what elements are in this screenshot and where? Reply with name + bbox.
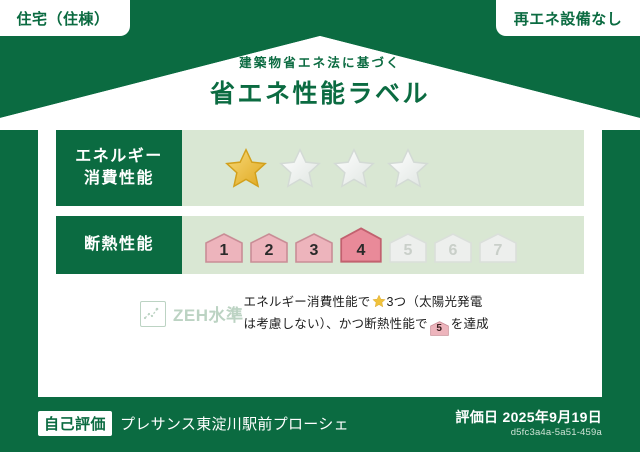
energy-performance-value <box>182 130 584 206</box>
star-empty-icon <box>386 146 430 190</box>
insulation-grade-value: 2 <box>265 242 274 264</box>
energy-label-line2: 消費性能 <box>84 168 154 190</box>
building-type-badge: 住宅（住棟） <box>0 0 130 36</box>
self-evaluation-badge: 自己評価 <box>38 411 112 436</box>
zeh-standard: ZEH水準 <box>56 301 244 327</box>
insulation-grade-scale: 1234567 <box>182 226 518 264</box>
insulation-performance-label-box: 断熱性能 <box>56 216 182 274</box>
insulation-grade-5: 5 <box>388 232 428 264</box>
building-name: プレサンス東淀川駅前プローシェ <box>120 413 349 434</box>
content-panel: エネルギー 消費性能 断熱性能 1234567 <box>38 110 602 397</box>
inline-grade-value: 5 <box>430 321 449 337</box>
note-star-count: 3つ（太陽光発電 <box>387 295 483 309</box>
title-block: 建築物省エネ法に基づく 省エネ性能ラベル <box>0 52 640 110</box>
insulation-grade-value: 1 <box>220 242 229 264</box>
note-part-1: エネルギー消費性能で <box>244 295 371 309</box>
insulation-grade-value: 7 <box>494 242 503 264</box>
insulation-grade-7: 7 <box>478 232 518 264</box>
renewable-energy-badge: 再エネ設備なし <box>496 0 640 36</box>
insulation-label-line1: 断熱性能 <box>84 234 154 256</box>
title-subtitle: 建築物省エネ法に基づく <box>0 52 640 71</box>
footer: 自己評価 プレサンス東淀川駅前プローシェ 評価日 2025年9月19日 d5fc… <box>0 397 640 452</box>
evaluation-id: d5fc3a4a-5a51-459a <box>511 427 602 438</box>
insulation-grade-value: 5 <box>404 242 413 264</box>
note-part-3: を達成 <box>451 317 489 331</box>
insulation-performance-row: 断熱性能 1234567 <box>56 216 584 274</box>
inline-star-icon <box>372 294 386 308</box>
energy-performance-label: 住宅（住棟） 再エネ設備なし 建築物省エネ法に基づく 省エネ性能ラベル エネルギ… <box>0 0 640 452</box>
inline-grade-badge: 5 <box>430 321 449 336</box>
insulation-grade-2: 2 <box>249 232 289 264</box>
title-main: 省エネ性能ラベル <box>0 74 640 110</box>
insulation-performance-value: 1234567 <box>182 216 584 274</box>
star-rating <box>182 146 430 190</box>
zeh-chart-icon <box>140 301 166 327</box>
insulation-grade-value: 4 <box>357 242 366 264</box>
note-part-2: は考慮しない）、かつ断熱性能で <box>244 317 428 331</box>
zeh-note: ZEH水準 エネルギー消費性能で3つ（太陽光発電は考慮しない）、かつ断熱性能で5… <box>56 292 584 336</box>
star-empty-icon <box>332 146 376 190</box>
zeh-description: エネルギー消費性能で3つ（太陽光発電は考慮しない）、かつ断熱性能で5を達成 <box>244 292 585 336</box>
energy-performance-label-box: エネルギー 消費性能 <box>56 130 182 206</box>
star-filled-icon <box>224 146 268 190</box>
energy-label-line1: エネルギー <box>75 146 163 168</box>
insulation-grade-6: 6 <box>433 232 473 264</box>
star-empty-icon <box>278 146 322 190</box>
evaluation-date: 評価日 2025年9月19日 <box>455 407 602 427</box>
insulation-grade-3: 3 <box>294 232 334 264</box>
energy-performance-row: エネルギー 消費性能 <box>56 130 584 206</box>
insulation-grade-value: 3 <box>310 242 319 264</box>
insulation-grade-value: 6 <box>449 242 458 264</box>
zeh-label: ZEH水準 <box>173 301 244 326</box>
insulation-grade-4: 4 <box>339 226 383 264</box>
insulation-grade-1: 1 <box>204 232 244 264</box>
